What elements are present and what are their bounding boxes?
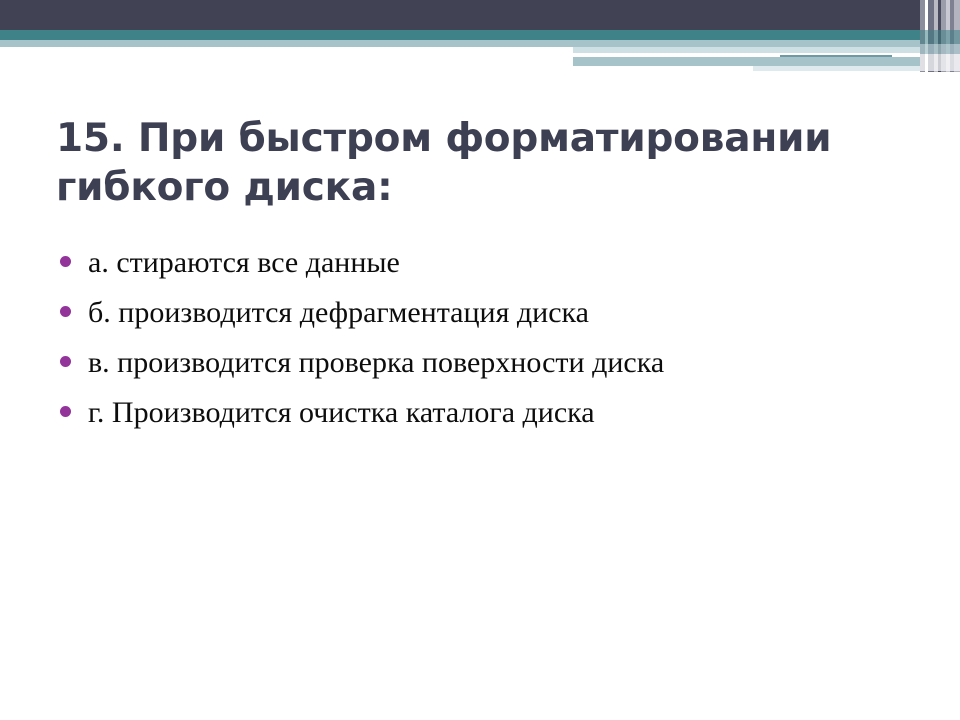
page-title: 15. При быстром форматировании гибкого д… xyxy=(56,114,856,212)
list-item: г. Производится очистка каталога диска xyxy=(60,393,930,443)
banner-step-bar-2 xyxy=(573,57,948,66)
banner-stripe-teal-overlay xyxy=(920,30,960,44)
list-item: б. производится дефрагментация диска xyxy=(60,293,930,343)
bullet-dot-icon xyxy=(60,356,71,367)
banner-step-bar-3 xyxy=(753,66,948,71)
list-item-label: в. производится проверка поверхности дис… xyxy=(88,343,664,383)
list-item-label: б. производится дефрагментация диска xyxy=(88,293,589,333)
bullet-dot-icon xyxy=(60,406,71,417)
banner-stripe-pale-overlay xyxy=(920,54,960,71)
list-item-label: г. Производится очистка каталога диска xyxy=(88,393,595,433)
list-item: в. производится проверка поверхности дис… xyxy=(60,343,930,393)
list-item: а. стираются все данные xyxy=(60,243,930,293)
banner-stripe-lightblue-overlay xyxy=(920,44,960,54)
header-banner xyxy=(0,0,960,72)
bullet-dot-icon xyxy=(60,256,71,267)
banner-stepped-bars xyxy=(0,0,960,72)
banner-step-gap-2 xyxy=(573,66,753,71)
banner-vertical-stripes xyxy=(920,0,960,72)
bullet-dot-icon xyxy=(60,306,71,317)
answer-options-list: а. стираются все данные б. производится … xyxy=(60,243,930,443)
list-item-label: а. стираются все данные xyxy=(88,243,400,283)
slide: 15. При быстром форматировании гибкого д… xyxy=(0,0,960,720)
